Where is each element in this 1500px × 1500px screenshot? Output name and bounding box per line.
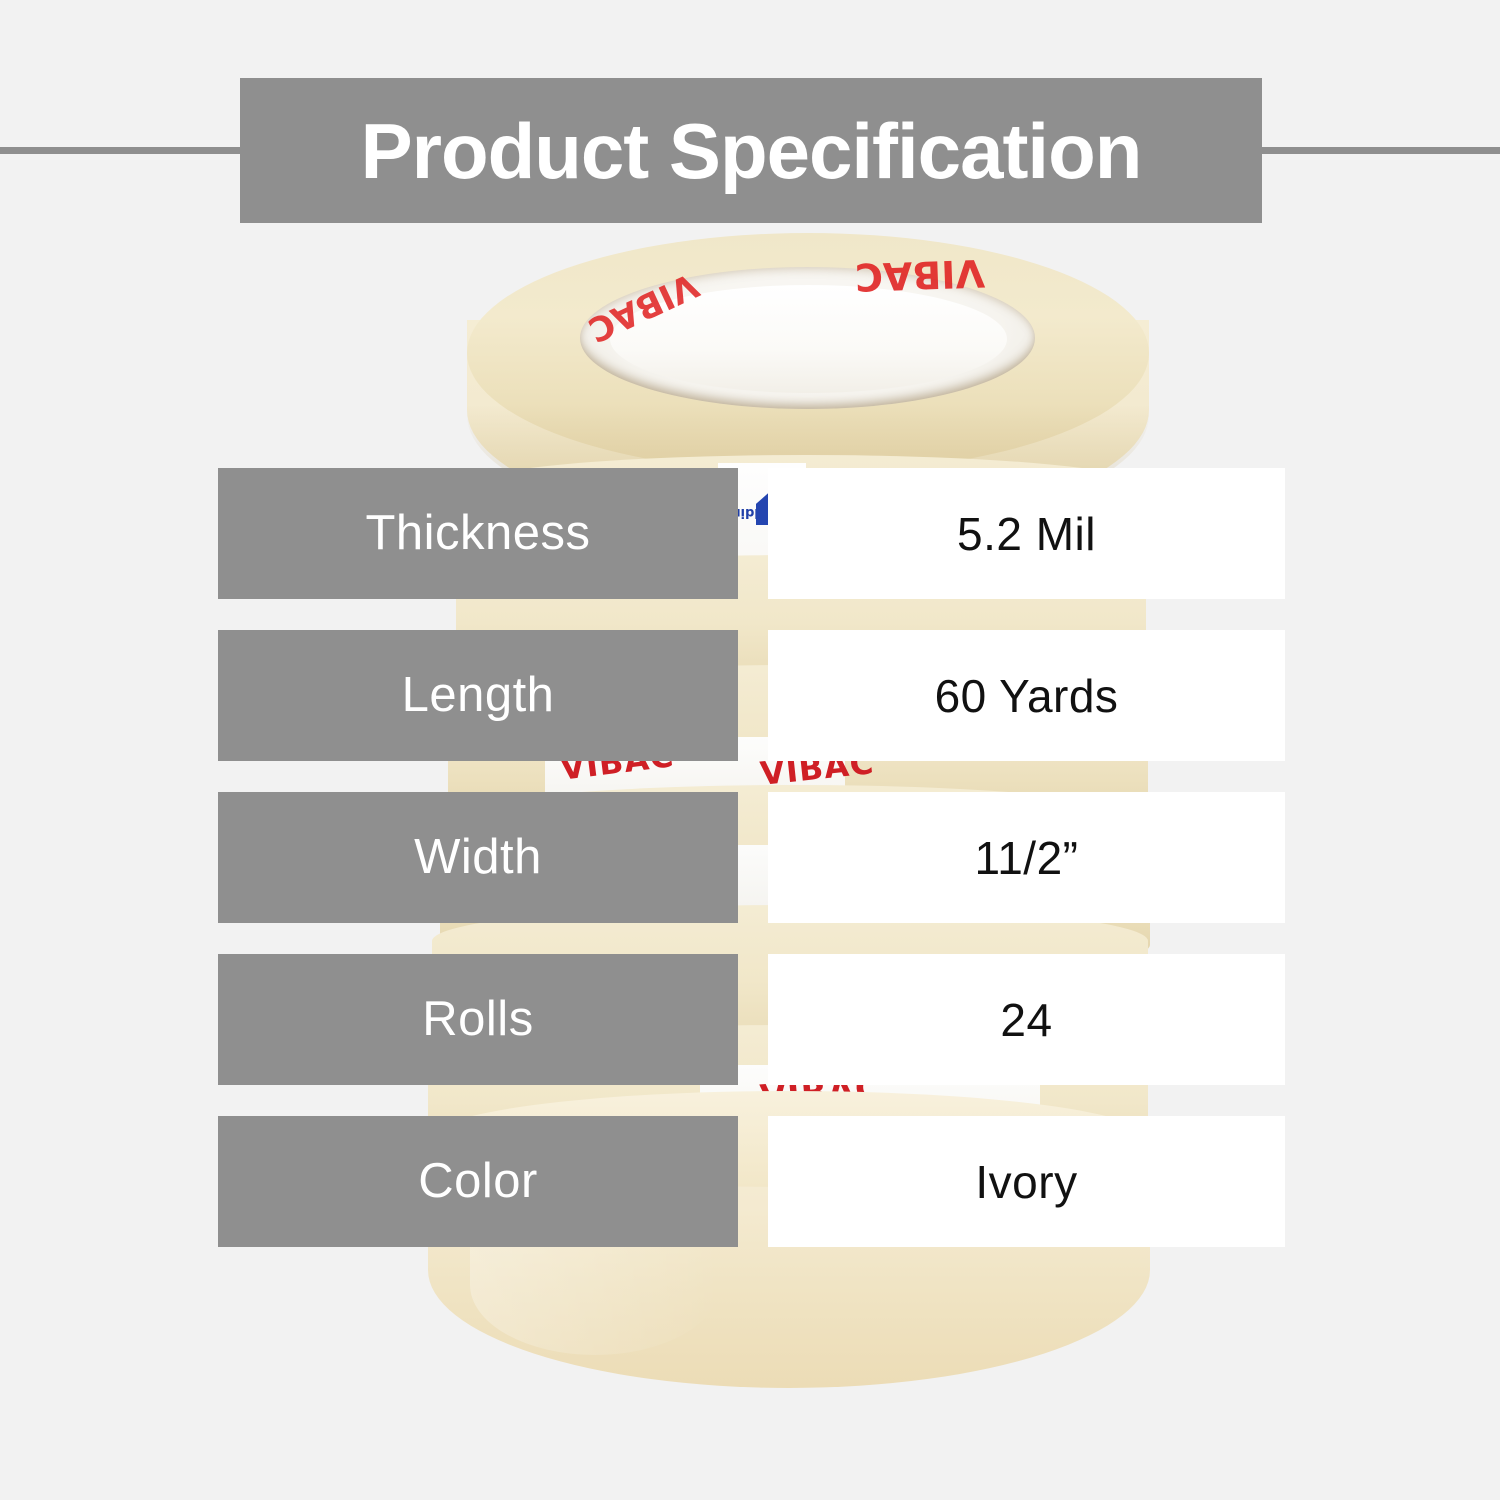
spec-label-box-length: Length [218,630,738,761]
spec-value-box-color: Ivory [768,1116,1285,1247]
spec-label-box-thickness: Thickness [218,468,738,599]
spec-label-box-width: Width [218,792,738,923]
spec-value-rolls: 24 [1000,997,1052,1043]
spec-value-box-width: 11/2” [768,792,1285,923]
spec-label-color: Color [418,1157,538,1206]
spec-label-box-rolls: Rolls [218,954,738,1085]
spec-value-thickness: 5.2 Mil [957,511,1096,557]
spec-row-width: Width 11/2” [0,792,1500,923]
specification-table: Thickness 5.2 Mil Length 60 Yards Width … [0,0,1500,1500]
spec-label-width: Width [414,833,542,882]
spec-label-box-color: Color [218,1116,738,1247]
spec-value-color: Ivory [975,1159,1077,1205]
spec-row-rolls: Rolls 24 [0,954,1500,1085]
infographic-canvas: Product Specification VIBAC VIBAC Buildi… [0,0,1500,1500]
spec-value-length: 60 Yards [935,673,1119,719]
spec-row-thickness: Thickness 5.2 Mil [0,468,1500,599]
spec-row-length: Length 60 Yards [0,630,1500,761]
spec-row-color: Color Ivory [0,1116,1500,1247]
spec-value-box-length: 60 Yards [768,630,1285,761]
spec-value-box-rolls: 24 [768,954,1285,1085]
spec-value-width: 11/2” [975,835,1079,881]
spec-label-length: Length [402,671,555,720]
spec-value-box-thickness: 5.2 Mil [768,468,1285,599]
spec-label-thickness: Thickness [365,509,590,558]
spec-label-rolls: Rolls [422,995,533,1044]
